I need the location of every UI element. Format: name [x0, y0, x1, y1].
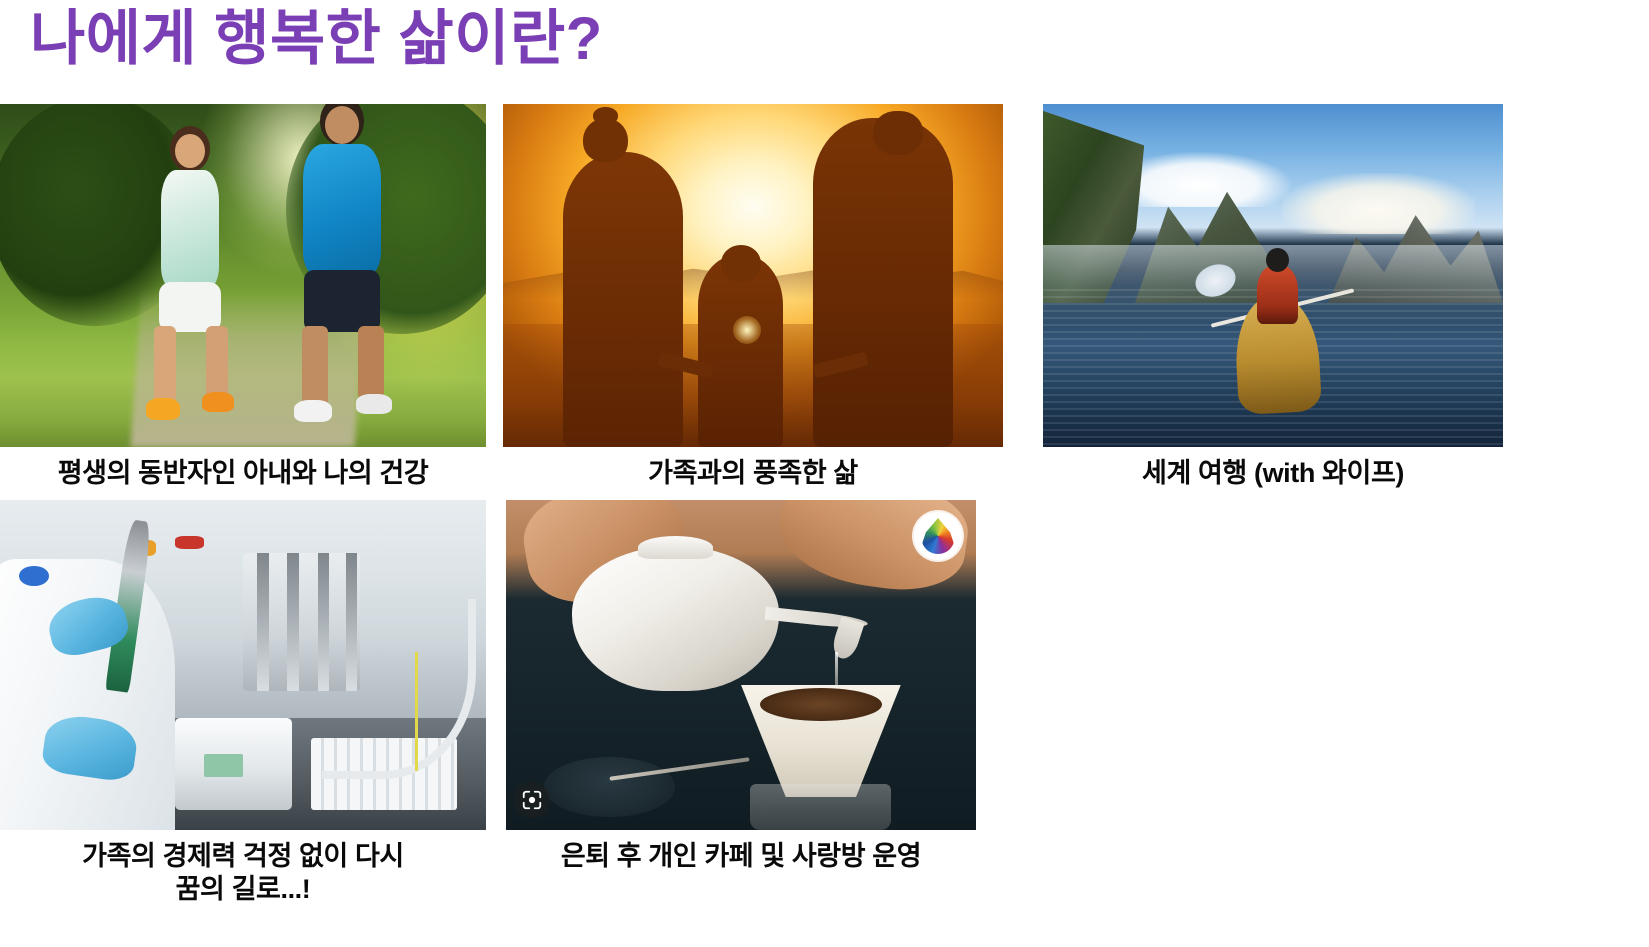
google-lens-icon[interactable]: [514, 782, 550, 818]
card-coffee[interactable]: 은퇴 후 개인 카페 및 사랑방 운영: [506, 500, 976, 873]
page-title: 나에게 행복한 삶이란?: [30, 4, 603, 73]
card-family[interactable]: 가족과의 풍족한 삶: [503, 104, 1003, 490]
silhouette-mother-bun: [593, 107, 618, 124]
caption-lab: 가족의 경제력 걱정 없이 다시 꿈의 길로...!: [0, 840, 486, 906]
runner-woman-top: [161, 170, 219, 288]
yellow-wire: [415, 652, 418, 771]
card-running[interactable]: 평생의 동반자인 아내와 나의 건강: [0, 104, 486, 490]
reagent-cap-blue: [19, 566, 48, 586]
silhouette-child-head: [721, 245, 761, 283]
runner-woman-shoe-left: [146, 398, 180, 420]
kayak-paddler: [1257, 265, 1298, 323]
runner-man-shorts: [304, 270, 380, 332]
slide-root: 나에게 행복한 삶이란?: [0, 0, 1649, 947]
reagent-cap-red: [175, 536, 204, 549]
runner-man-shoe-left: [294, 400, 332, 422]
runner-woman: [136, 126, 244, 426]
runner-man-shirt: [303, 144, 381, 276]
instrument-display: [204, 754, 243, 777]
caption-kayak: 세계 여행 (with 와이프): [1043, 457, 1503, 490]
runner-woman-shorts: [159, 282, 221, 332]
photo-family-sunset[interactable]: [503, 104, 1003, 447]
colored-drop-watermark: [914, 512, 962, 560]
caption-family: 가족과의 풍족한 삶: [503, 457, 1003, 490]
runner-woman-face: [175, 134, 205, 168]
cloud-right: [1282, 173, 1475, 235]
runner-woman-shoe-right: [202, 392, 234, 412]
silhouette-child: [698, 255, 783, 447]
photo-running-couple[interactable]: [0, 104, 486, 447]
coffee-grounds: [760, 688, 882, 721]
coffee-server: [750, 784, 891, 830]
sun-flare: [733, 316, 761, 344]
kayak-paddler-head: [1266, 248, 1289, 272]
drop-shape: [922, 518, 954, 554]
gooseneck-kettle: [572, 546, 779, 691]
kettle-lid: [638, 536, 713, 559]
photo-laboratory[interactable]: [0, 500, 486, 830]
silhouette-father-head: [873, 111, 923, 156]
runner-woman-leg-right: [206, 326, 228, 398]
coffee-scale: [544, 757, 676, 816]
rack-stem-2: [287, 553, 299, 692]
runner-man-face: [325, 106, 359, 144]
runner-man-leg-left: [302, 326, 328, 406]
card-kayak[interactable]: 세계 여행 (with 와이프): [1043, 104, 1503, 490]
card-lab[interactable]: 가족의 경제력 걱정 없이 다시 꿈의 길로...!: [0, 500, 486, 906]
rack-stem-1: [257, 553, 269, 692]
silhouette-mother: [563, 152, 683, 447]
runner-man-shoe-right: [356, 394, 392, 414]
caption-coffee: 은퇴 후 개인 카페 및 사랑방 운영: [506, 840, 976, 873]
runner-man-leg-right: [358, 326, 384, 400]
runner-woman-leg-left: [154, 326, 176, 404]
caption-running: 평생의 동반자인 아내와 나의 건강: [0, 457, 486, 490]
runner-man: [282, 104, 402, 426]
photo-pour-over-coffee[interactable]: [506, 500, 976, 830]
photo-kayak-fjord[interactable]: [1043, 104, 1503, 447]
silhouette-father: [813, 118, 953, 447]
